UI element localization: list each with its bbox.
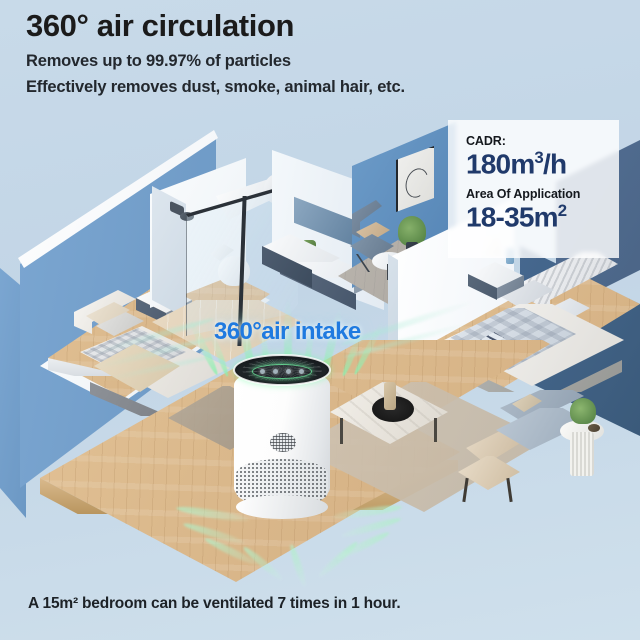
cadr-label: CADR: [466,134,619,148]
cadr-value-superscript: 3 [534,148,543,167]
product-marketing-image: 360° air circulation Removes up to 99.97… [0,0,640,640]
armchair-cream-leg-a [462,478,468,502]
area-value: 18-35m2 [466,202,619,232]
coffee-table-leg-a [340,418,343,444]
subhead-line-1: Removes up to 99.97% of particles [26,52,291,71]
cadr-value: 180m3/h [466,149,619,179]
footer-note: A 15m² bedroom can be ventilated 7 times… [28,595,401,613]
coffee-table [330,382,460,462]
coffee-table-vase [384,382,396,410]
spec-card: CADR: 180m3/h Area Of Application 18-35m… [448,120,619,258]
area-label: Area Of Application [466,187,619,201]
purifier-top-rim [233,354,331,386]
pedestal-table-column [570,432,594,476]
area-value-superscript: 2 [558,201,567,220]
purifier-side-vent [270,433,296,452]
purifier-base [236,495,328,519]
armchair-cream-leg-b [506,478,512,502]
coffee-table-leg-b [434,418,437,442]
subhead-line-2: Effectively removes dust, smoke, animal … [26,78,405,97]
page-title: 360° air circulation [26,8,294,44]
air-intake-label: 360°air intake [214,318,361,346]
air-purifier [234,355,330,520]
area-value-main: 18-35m [466,201,558,232]
pedestal-table-bowl [588,424,600,432]
pedestal-side-table [560,420,606,486]
nightstand-right [468,252,528,302]
media-console [262,228,348,290]
pedestal-table-plant [570,398,596,424]
cadr-value-main: 180m [466,148,534,179]
cadr-value-tail: /h [543,148,566,179]
